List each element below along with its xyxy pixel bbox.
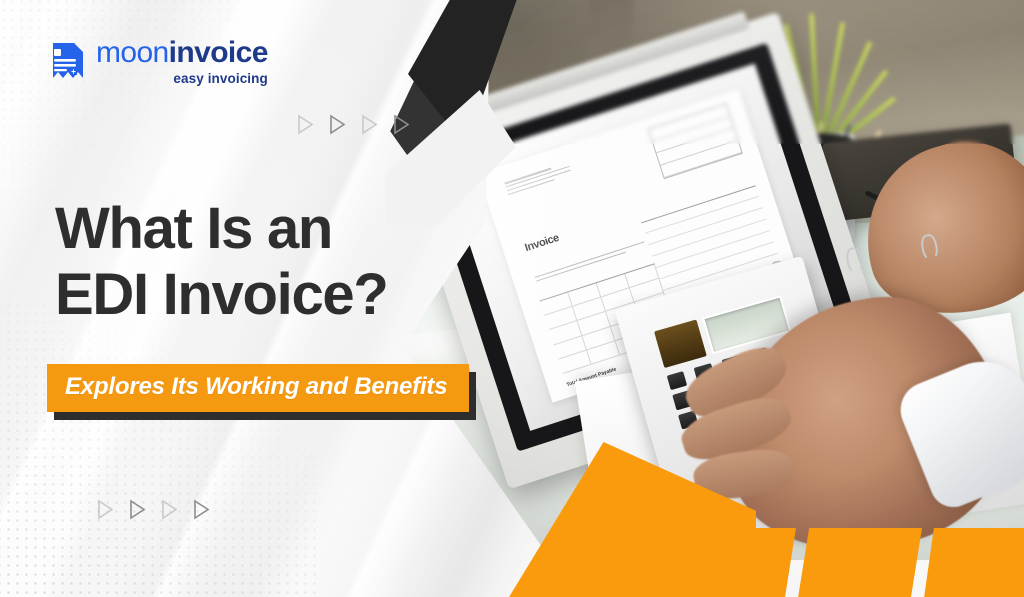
triangle-right-icon: [160, 499, 179, 520]
subtitle-text: Explores Its Working and Benefits: [65, 373, 447, 400]
calculator-solar-panel: [654, 319, 708, 368]
invoice-document-icon: [46, 40, 86, 84]
logo-name-moon: moon: [96, 36, 169, 69]
headline-line-2: EDI Invoice?: [55, 262, 388, 328]
subtitle-band: Explores Its Working and Benefits: [47, 364, 469, 412]
invoice-title: Invoice: [523, 232, 560, 254]
headline-line-1: What Is an: [55, 196, 332, 261]
logo-wordmark: mooninvoice easy invoicing: [96, 38, 268, 86]
logo-name-invoice: invoice: [169, 36, 268, 69]
logo-tagline: easy invoicing: [96, 72, 268, 86]
triangle-right-icon: [96, 499, 115, 520]
triangle-right-icon: [192, 499, 211, 520]
subtitle-banner: Explores Its Working and Benefits: [47, 364, 469, 412]
triangle-right-icon: [360, 114, 379, 135]
blog-hero-banner: Invoice: [0, 0, 1024, 597]
mooninvoice-logo[interactable]: mooninvoice easy invoicing: [46, 38, 268, 86]
triangle-right-icon: [296, 114, 315, 135]
invoice-address-block: [504, 158, 587, 198]
triangle-right-icon: [328, 114, 347, 135]
page-title: What Is an EDI Invoice?: [55, 196, 388, 327]
arrow-group-top: [296, 114, 411, 135]
dot-pattern-bottom-left: [0, 300, 316, 597]
triangle-right-icon: [392, 114, 411, 135]
triangle-right-icon: [128, 499, 147, 520]
arrow-group-bottom: [96, 499, 211, 520]
